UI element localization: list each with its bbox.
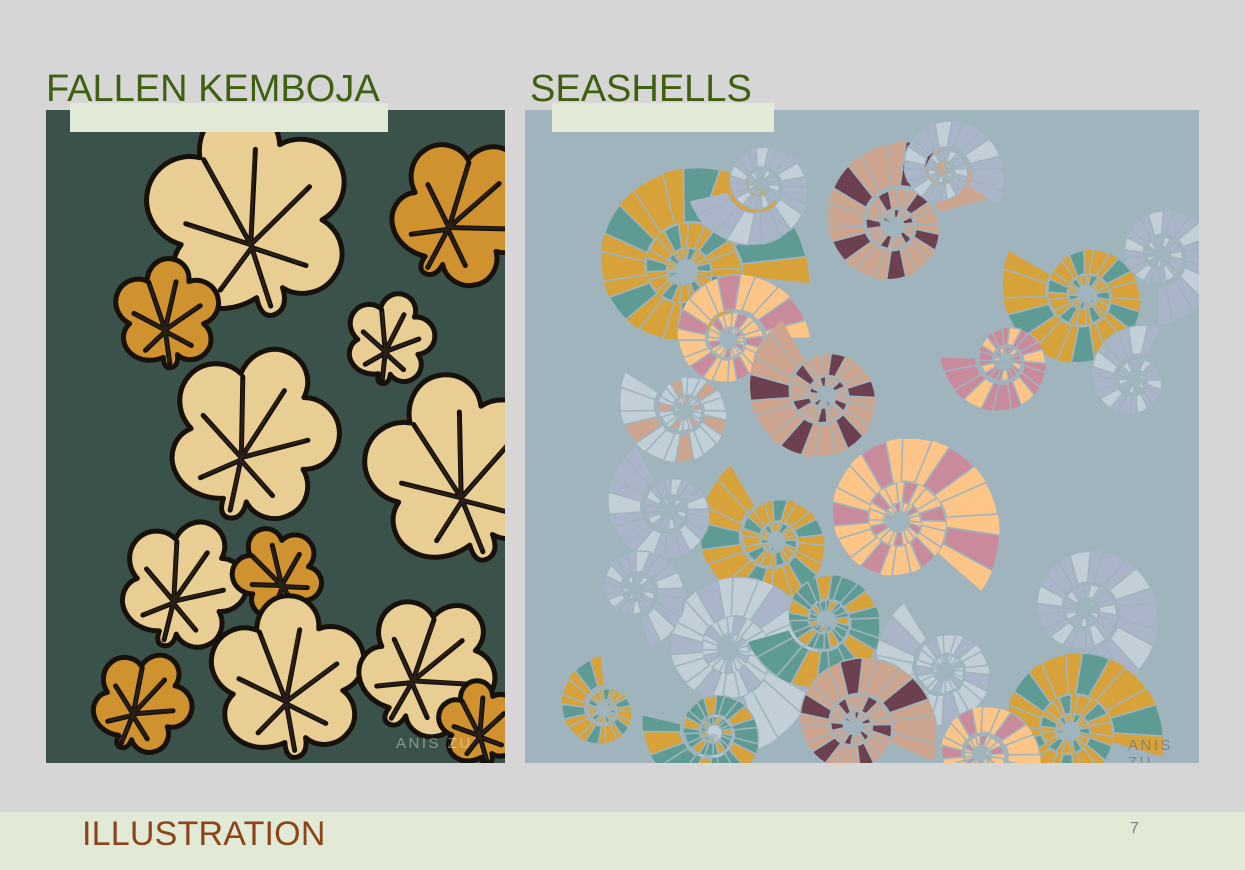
seashells-illustration [525,110,1199,763]
artwork-seashells[interactable]: ANIS ZU [525,110,1199,763]
panel-title-fallen-kemboja: FALLEN KEMBOJA [46,70,380,108]
artwork-fallen-kemboja[interactable]: ANIS ZU [46,110,505,763]
section-label-illustration: ILLUSTRATION [82,815,326,854]
panel-title-seashells: SEASHELLS [530,70,752,108]
page-number: 7 [1130,820,1139,838]
slide-canvas: ANIS ZU ANIS ZU FALLEN KEMBOJA SEASHELLS… [0,0,1245,870]
kemboja-illustration [46,110,505,763]
